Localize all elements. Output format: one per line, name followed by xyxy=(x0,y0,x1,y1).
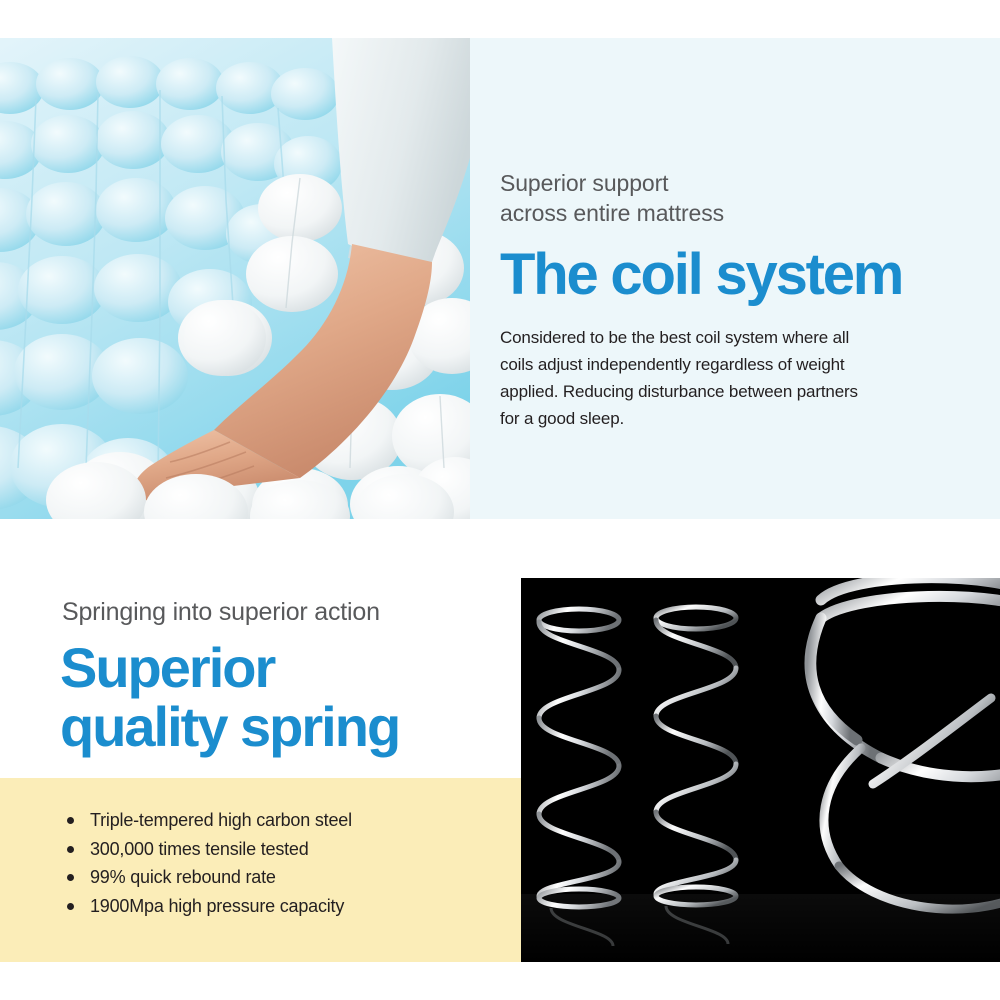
top-headline: The coil system xyxy=(500,244,970,306)
bullet-dot-icon xyxy=(67,903,74,910)
top-body-line-3: applied. Reducing disturbance between pa… xyxy=(500,378,900,405)
bottom-headline-line-2: quality spring xyxy=(60,697,399,756)
list-item: Triple-tempered high carbon steel xyxy=(62,806,482,835)
top-body-line-4: for a good sleep. xyxy=(500,405,900,432)
top-body-line-2: coils adjust independently regardless of… xyxy=(500,351,900,378)
bottom-headline: Superior quality spring xyxy=(60,638,399,756)
list-item-label: Triple-tempered high carbon steel xyxy=(90,810,352,830)
list-item-label: 300,000 times tensile tested xyxy=(90,839,309,859)
spring-photo xyxy=(521,578,1000,962)
list-item: 99% quick rebound rate xyxy=(62,863,482,892)
list-item: 1900Mpa high pressure capacity xyxy=(62,892,482,921)
top-kicker: Superior support across entire mattress xyxy=(500,168,970,228)
bullet-dot-icon xyxy=(67,817,74,824)
top-kicker-line-2: across entire mattress xyxy=(500,198,970,228)
coil-photo xyxy=(0,38,470,519)
top-section: Superior support across entire mattress … xyxy=(0,38,1000,519)
list-item-label: 99% quick rebound rate xyxy=(90,867,276,887)
top-body-copy: Considered to be the best coil system wh… xyxy=(500,324,900,432)
top-body-line-1: Considered to be the best coil system wh… xyxy=(500,324,900,351)
bottom-kicker: Springing into superior action xyxy=(62,596,380,628)
bullet-dot-icon xyxy=(67,874,74,881)
list-item-label: 1900Mpa high pressure capacity xyxy=(90,896,344,916)
bottom-headline-line-1: Superior xyxy=(60,638,399,697)
bullet-dot-icon xyxy=(67,846,74,853)
list-item: 300,000 times tensile tested xyxy=(62,835,482,864)
top-kicker-line-1: Superior support xyxy=(500,168,970,198)
product-infographic-page: Superior support across entire mattress … xyxy=(0,0,1000,1000)
top-text-block: Superior support across entire mattress … xyxy=(500,168,970,432)
feature-bullet-list: Triple-tempered high carbon steel 300,00… xyxy=(62,806,482,920)
